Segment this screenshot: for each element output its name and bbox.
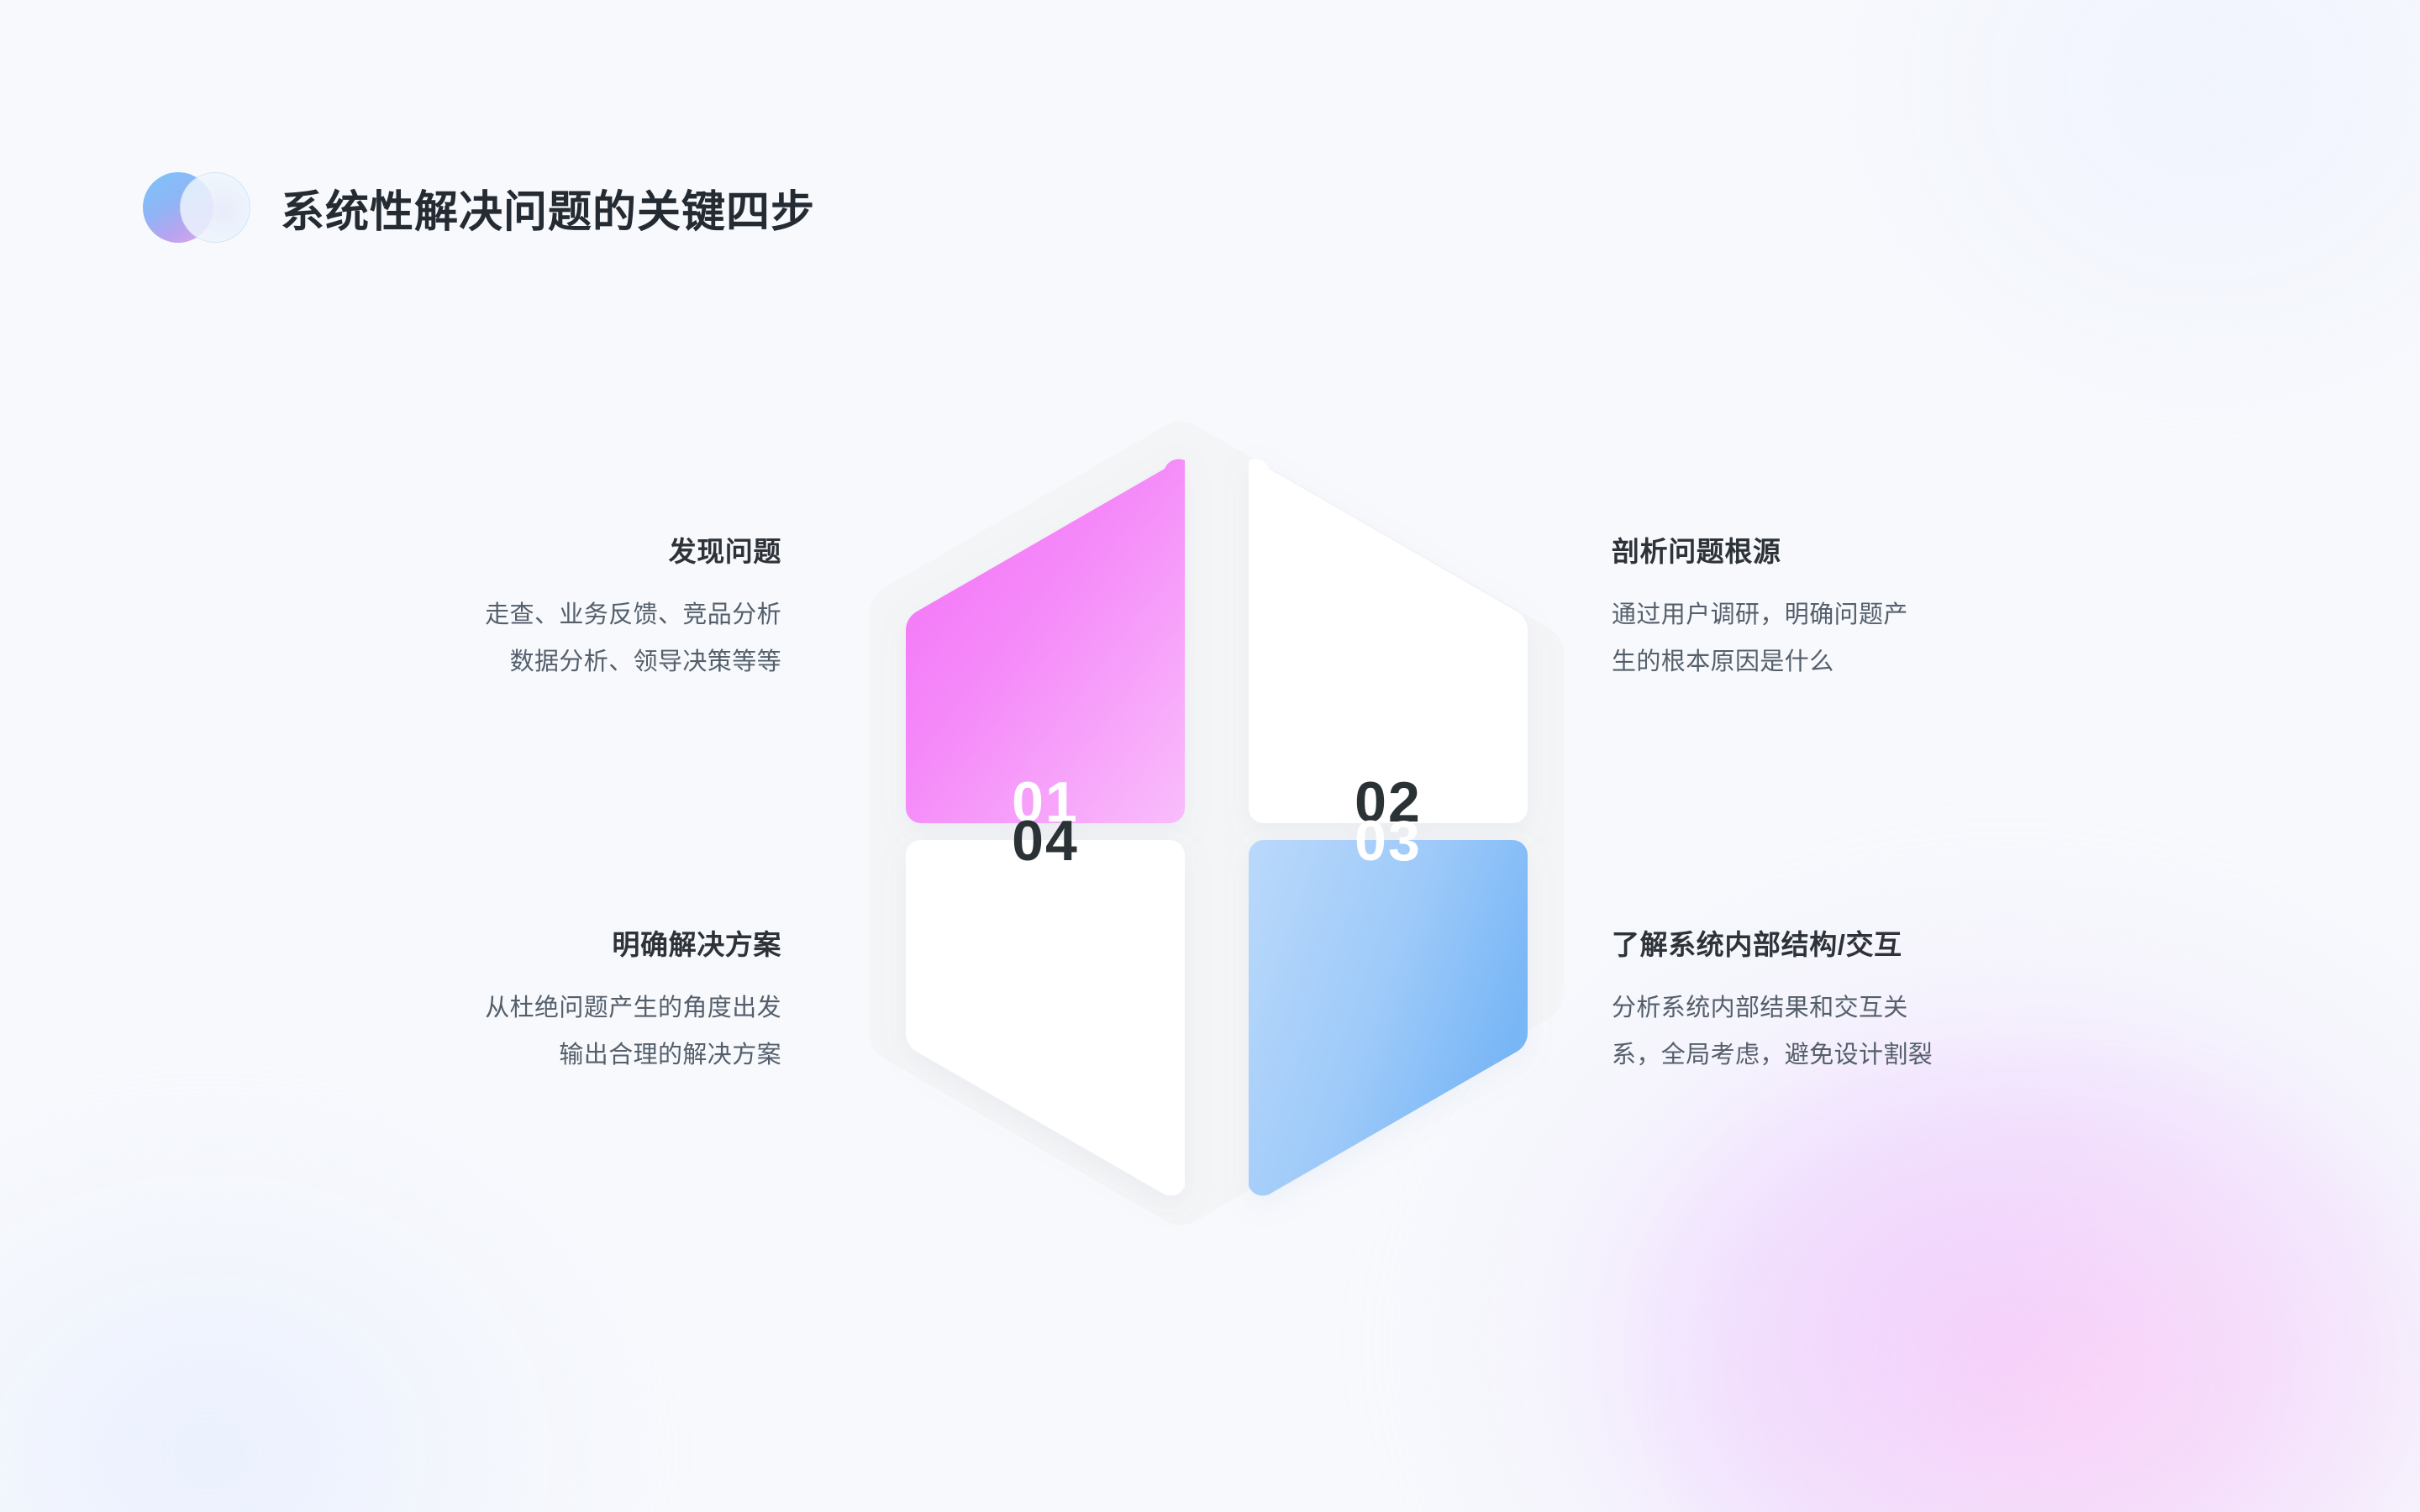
step-04-description-line-1: 从杜绝问题产生的角度出发 (244, 984, 781, 1032)
step-01-description-line-1: 走查、业务反馈、竞品分析 (244, 591, 781, 638)
step-01-description-line-2: 数据分析、领导决策等等 (244, 638, 781, 685)
step-02-title: 剖析问题根源 (1612, 529, 2149, 570)
quadrant-03-shape[interactable] (1249, 840, 1528, 1196)
quadrant-03[interactable]: 03 (1249, 809, 1528, 1196)
glow-bottom-left (0, 1075, 672, 1512)
step-03-description: 分析系统内部结果和交互关 系，全局考虑，避免设计割裂 (1612, 984, 2149, 1079)
hexagon-diagram: 01 02 04 03 (855, 420, 1578, 1226)
glow-bottom-right-pink (1664, 1067, 2420, 1512)
step-04-description-line-2: 输出合理的解决方案 (244, 1032, 781, 1079)
step-04-description: 从杜绝问题产生的角度出发 输出合理的解决方案 (244, 984, 781, 1079)
step-03-text-block: 了解系统内部结构/交互 分析系统内部结果和交互关 系，全局考虑，避免设计割裂 (1612, 922, 2149, 1079)
step-02-text-block: 剖析问题根源 通过用户调研，明确问题产 生的根本原因是什么 (1612, 529, 2149, 685)
two-overlapping-circles-icon (143, 172, 250, 243)
step-01-title: 发现问题 (244, 529, 781, 570)
step-03-title: 了解系统内部结构/交互 (1612, 922, 2149, 963)
quadrant-02-shape[interactable] (1249, 459, 1528, 823)
quadrant-02[interactable]: 02 (1249, 459, 1528, 834)
quadrant-03-number: 03 (1355, 809, 1422, 873)
step-02-description-line-1: 通过用户调研，明确问题产 (1612, 591, 2149, 638)
page-title: 系统性解决问题的关键四步 (281, 176, 815, 239)
quadrant-04-number: 04 (1012, 809, 1079, 873)
step-04-title: 明确解决方案 (244, 922, 781, 963)
glow-top-right (1832, 0, 2420, 420)
logo-circle-translucent (180, 172, 250, 243)
step-03-description-line-1: 分析系统内部结果和交互关 (1612, 984, 2149, 1032)
step-03-description-line-2: 系，全局考虑，避免设计割裂 (1612, 1032, 2149, 1079)
page-header: 系统性解决问题的关键四步 (143, 172, 815, 243)
step-02-description-line-2: 生的根本原因是什么 (1612, 638, 2149, 685)
step-01-text-block: 发现问题 走查、业务反馈、竞品分析 数据分析、领导决策等等 (244, 529, 781, 685)
step-02-description: 通过用户调研，明确问题产 生的根本原因是什么 (1612, 591, 2149, 685)
step-01-description: 走查、业务反馈、竞品分析 数据分析、领导决策等等 (244, 591, 781, 685)
step-04-text-block: 明确解决方案 从杜绝问题产生的角度出发 输出合理的解决方案 (244, 922, 781, 1079)
